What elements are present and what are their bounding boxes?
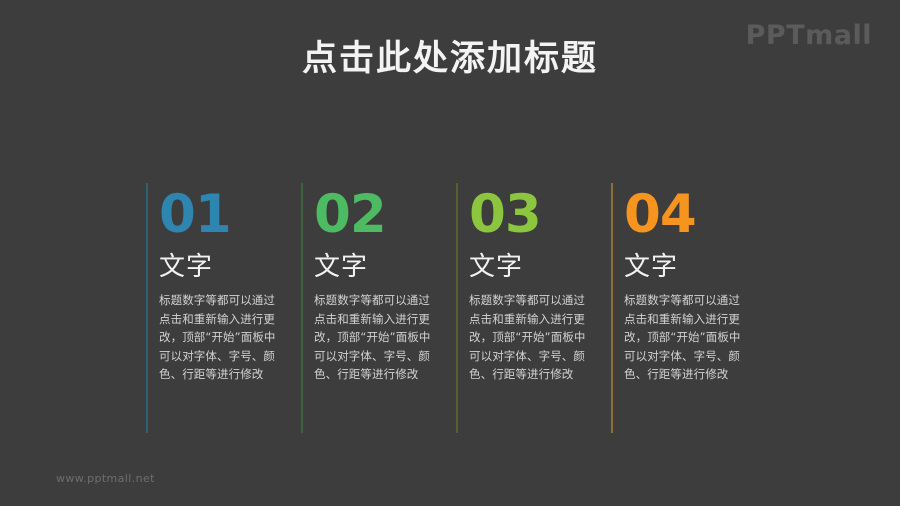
content-column-01: 01 文字 标题数字等都可以通过点击和重新输入进行更改，顶部“开始”面板中可以对…	[146, 183, 301, 433]
footer-url: www.pptmall.net	[56, 472, 155, 485]
column-number-02: 02	[314, 189, 456, 251]
column-body-04: 标题数字等都可以通过点击和重新输入进行更改，顶部“开始”面板中可以对字体、字号、…	[624, 291, 750, 384]
column-body-03: 标题数字等都可以通过点击和重新输入进行更改，顶部“开始”面板中可以对字体、字号、…	[469, 291, 595, 384]
column-rule-04	[611, 183, 613, 433]
column-body-02: 标题数字等都可以通过点击和重新输入进行更改，顶部“开始”面板中可以对字体、字号、…	[314, 291, 440, 384]
content-column-02: 02 文字 标题数字等都可以通过点击和重新输入进行更改，顶部“开始”面板中可以对…	[301, 183, 456, 433]
slide-title: 点击此处添加标题	[0, 38, 900, 80]
column-heading-04: 文字	[624, 253, 766, 283]
column-rule-02	[301, 183, 303, 433]
column-body-01: 标题数字等都可以通过点击和重新输入进行更改，顶部“开始”面板中可以对字体、字号、…	[159, 291, 285, 384]
column-number-01: 01	[159, 189, 301, 251]
content-column-03: 03 文字 标题数字等都可以通过点击和重新输入进行更改，顶部“开始”面板中可以对…	[456, 183, 611, 433]
column-rule-01	[146, 183, 148, 433]
column-number-03: 03	[469, 189, 611, 251]
column-heading-03: 文字	[469, 253, 611, 283]
content-column-04: 04 文字 标题数字等都可以通过点击和重新输入进行更改，顶部“开始”面板中可以对…	[611, 183, 766, 433]
column-number-04: 04	[624, 189, 766, 251]
column-heading-01: 文字	[159, 253, 301, 283]
column-rule-03	[456, 183, 458, 433]
column-heading-02: 文字	[314, 253, 456, 283]
content-columns: 01 文字 标题数字等都可以通过点击和重新输入进行更改，顶部“开始”面板中可以对…	[146, 183, 786, 433]
